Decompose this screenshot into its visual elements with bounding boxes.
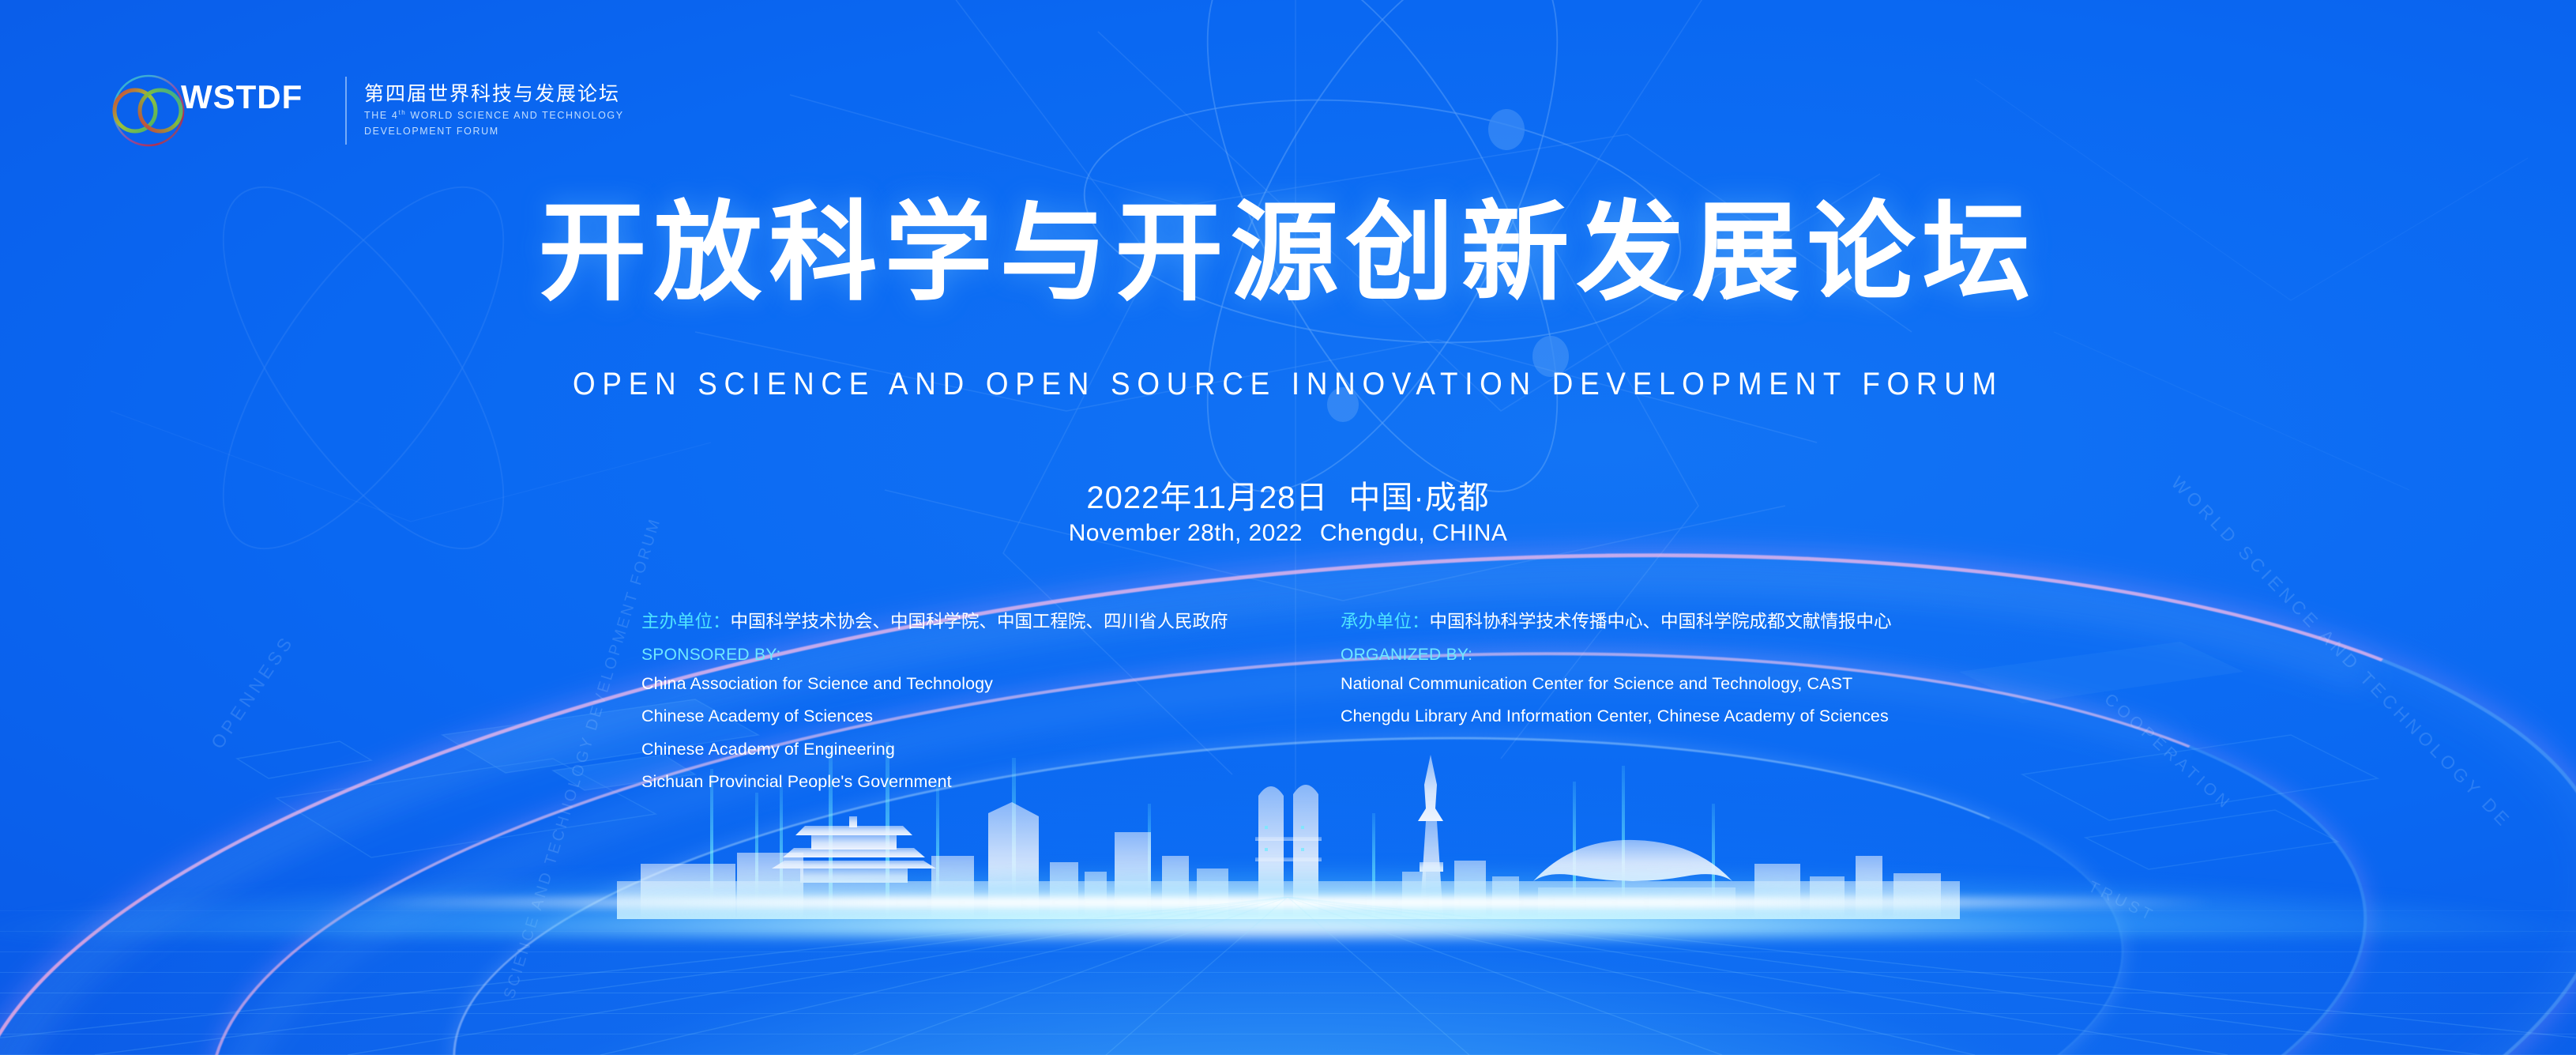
organizer-item: National Communication Center for Scienc… [1341, 676, 1984, 693]
organizer-cn-label: 承办单位： [1341, 612, 1430, 631]
logo-divider [345, 77, 347, 145]
conference-banner: OPENNESS SCIENCE AND TECHNOLOGY DEVELOPM… [0, 0, 2576, 1055]
sponsor-cn-line: 主办单位：中国科学技术协会、中国科学院、中国工程院、四川省人民政府 [641, 613, 1301, 631]
event-date-location-cn: 2022年11月28日中国·成都 [0, 472, 2576, 518]
ring-watermark: SCIENCE AND TECHNOLOGY DEVELOPMENT FORUM [501, 515, 665, 1001]
page-subtitle: OPEN SCIENCE AND OPEN SOURCE INNOVATION … [103, 367, 2473, 402]
organizer-cn-value: 中国科协科学技术传播中心、中国科学院成都文献情报中心 [1429, 612, 1891, 631]
horizon-core-line [361, 897, 2216, 908]
sponsor-cn-value: 中国科学技术协会、中国科学院、中国工程院、四川省人民政府 [731, 612, 1228, 631]
organizer-en-label: ORGANIZED BY: [1341, 646, 1984, 663]
wstdf-logo[interactable]: WSTDF 第四届世界科技与发展论坛 THE 4th WORLD SCIENCE… [105, 67, 624, 154]
sponsor-item: China Association for Science and Techno… [641, 676, 1301, 693]
horizon-glow [0, 842, 2576, 936]
event-date-en: November 28th, 2022 [1069, 520, 1303, 546]
sponsor-column: 主办单位：中国科学技术协会、中国科学院、中国工程院、四川省人民政府 SPONSO… [641, 613, 1301, 791]
perspective-grid [0, 897, 2576, 1055]
ring-watermark: OPENNESS [207, 631, 299, 752]
logo-en-line1-post: WORLD SCIENCE AND TECHNOLOGY [406, 110, 623, 121]
sponsor-item: Chinese Academy of Engineering [641, 741, 1301, 759]
organizer-column: 承办单位：中国科协科学技术传播中心、中国科学院成都文献情报中心 ORGANIZE… [1341, 613, 1984, 791]
sponsor-en-label: SPONSORED BY: [641, 646, 1301, 663]
sponsor-cn-label: 主办单位： [641, 612, 731, 631]
event-date-location-en: November 28th, 2022Chengdu, CHINA [0, 520, 2576, 547]
event-location-en: Chengdu, CHINA [1320, 520, 1507, 546]
page-title: 开放科学与开源创新发展论坛 [0, 199, 2576, 307]
logo-en-line2: DEVELOPMENT FORUM [364, 126, 624, 137]
atom-node-icon [1488, 109, 1525, 150]
logo-en-line1: THE 4th WORLD SCIENCE AND TECHNOLOGY [364, 109, 624, 122]
logo-en-line1-sup: th [398, 109, 406, 116]
logo-cn-name: 第四届世界科技与发展论坛 [364, 85, 624, 104]
wstdf-infinity-mark-icon [105, 67, 192, 154]
credits-section: 主办单位：中国科学技术协会、中国科学院、中国工程院、四川省人民政府 SPONSO… [641, 613, 1984, 791]
organizer-cn-line: 承办单位：中国科协科学技术传播中心、中国科学院成都文献情报中心 [1341, 613, 1984, 631]
wstdf-wordmark: WSTDF [181, 78, 303, 116]
logo-en-line1-pre: THE 4 [364, 110, 398, 121]
sponsor-item: Chinese Academy of Sciences [641, 708, 1301, 725]
ring-watermark: TRUST [2085, 878, 2158, 926]
event-location-cn: 中国·成都 [1348, 480, 1489, 515]
organizer-item: Chengdu Library And Information Center, … [1341, 708, 1984, 725]
event-date-cn: 2022年11月28日 [1086, 480, 1328, 515]
ring-watermark: COOPERATION [2100, 690, 2236, 814]
perspective-grid-rays [0, 897, 2576, 1055]
sponsor-item: Sichuan Provincial People's Government [641, 774, 1301, 791]
